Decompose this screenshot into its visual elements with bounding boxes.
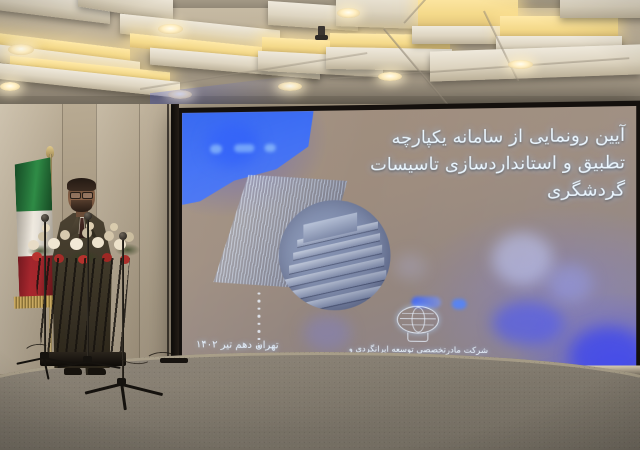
- bokeh-light: [492, 301, 563, 345]
- slide-date: تهران دهم تیر ۱۴۰۲: [196, 339, 279, 351]
- microphone-head: [84, 212, 92, 220]
- floor-equipment: [160, 358, 188, 363]
- speaker-beard: [71, 200, 92, 212]
- ceiling-downlight: [337, 8, 360, 18]
- slide-dot: [210, 144, 222, 153]
- projected-slide: آیین رونمایی از سامانه یکپارچه تطبیق و ا…: [182, 106, 636, 375]
- ceiling-downlight: [0, 82, 20, 91]
- ceiling-downlight: [508, 60, 533, 69]
- speaker-hair: [67, 178, 96, 191]
- ceiling-downlight: [158, 24, 183, 34]
- hotel-building-photo: [279, 200, 391, 311]
- microphone-head: [119, 232, 127, 240]
- ceiling-downlight: [8, 44, 34, 55]
- ceiling-downlight: [378, 72, 402, 81]
- bokeh-light: [492, 233, 552, 285]
- microphone-stand[interactable]: [44, 222, 46, 354]
- microphone-head: [41, 214, 49, 222]
- ceiling: [0, 0, 640, 118]
- bokeh-light: [395, 253, 427, 280]
- microphone-stand[interactable]: [87, 220, 89, 358]
- globe-emblem-icon: [393, 306, 444, 344]
- speaker-eyeglasses: [70, 192, 93, 197]
- bokeh-light: [548, 264, 592, 302]
- slide-dot: [234, 144, 254, 152]
- slide-title: آیین رونمایی از سامانه یکپارچه تطبیق و ا…: [305, 123, 625, 206]
- slide-title-line1: آیین رونمایی از سامانه یکپارچه: [305, 123, 625, 152]
- speaker-shoe: [64, 368, 82, 375]
- speaker-shoe: [88, 368, 106, 375]
- conference-hall-photo: آیین رونمایی از سامانه یکپارچه تطبیق و ا…: [0, 0, 640, 450]
- projection-screen: آیین رونمایی از سامانه یکپارچه تطبیق و ا…: [176, 101, 640, 381]
- slide-dot: [265, 144, 276, 152]
- slide-title-line2: تطبیق و استانداردسازی تاسیسات گردشگری: [305, 149, 625, 206]
- ceiling-projector-mount: [318, 26, 325, 37]
